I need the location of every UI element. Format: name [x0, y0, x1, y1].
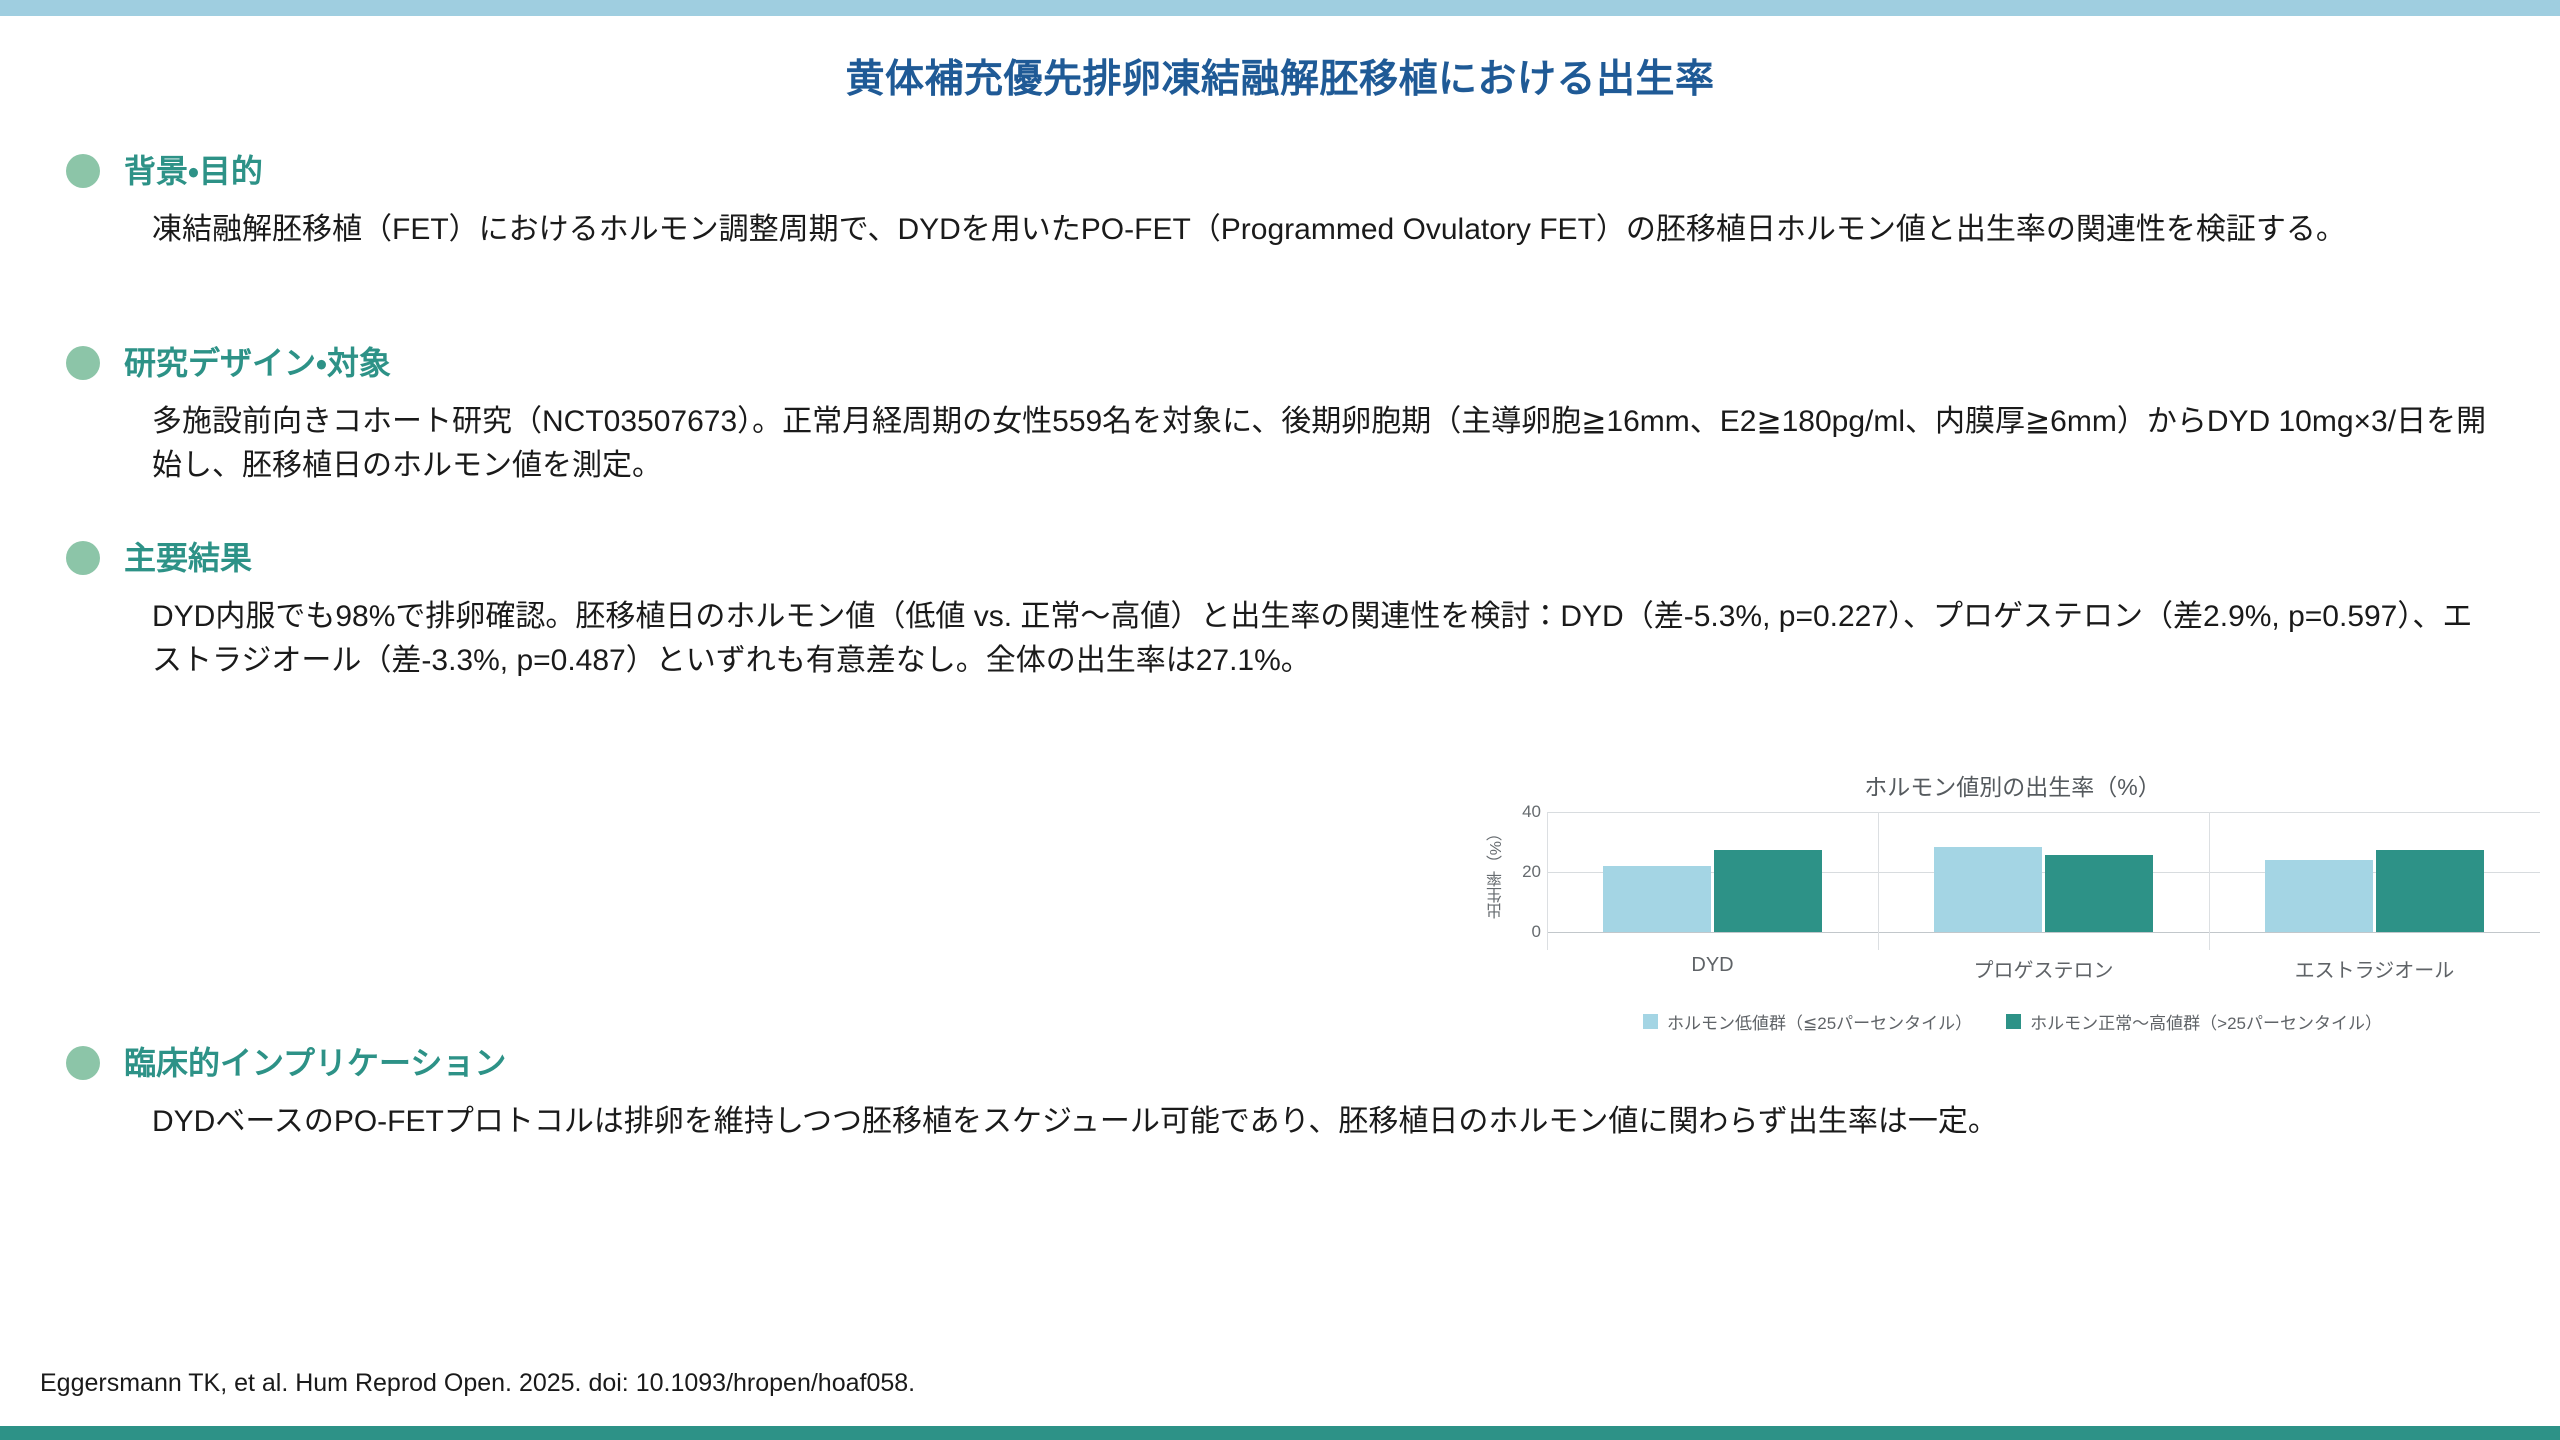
legend-swatch-high-icon	[2006, 1014, 2021, 1029]
chart-title: ホルモン値別の出生率（%）	[1485, 768, 2540, 802]
section-body: DYDベースのPO-FETプロトコルは排卵を維持しつつ胚移植をスケジュール可能で…	[152, 1100, 2496, 1144]
bar-groups	[1547, 812, 2540, 932]
section-body: DYD内服でも98%で排卵確認。胚移植日のホルモン値（低値 vs. 正常〜高値）…	[152, 595, 2496, 684]
section-body: 凍結融解胚移植（FET）におけるホルモン調整周期で、DYDを用いたPO-FET（…	[152, 208, 2496, 252]
bar-estradiol-high	[2376, 850, 2484, 932]
axis-line-zero	[1547, 932, 2540, 933]
bullet-icon	[66, 1046, 100, 1080]
chart-x-axis-labels: DYD プロゲステロン エストラジオール	[1547, 954, 2540, 983]
section-background-purpose: 背景・目的 凍結融解胚移植（FET）におけるホルモン調整周期で、DYDを用いたP…	[66, 148, 2496, 252]
section-header: 臨床的インプリケーション	[66, 1040, 2496, 1086]
section-header: 背景・目的	[66, 148, 2496, 194]
section-title: 臨床的インプリケーション	[124, 1047, 506, 1079]
chart-plot-area: 出生率（%） 40 20 0	[1485, 812, 2540, 932]
chart-legend: ホルモン低値群（≦25パーセンタイル） ホルモン正常〜高値群（>25パーセンタイ…	[1485, 1009, 2540, 1034]
bar-dyd-low	[1603, 866, 1711, 932]
bullet-icon	[66, 346, 100, 380]
citation-footer: Eggersmann TK, et al. Hum Reprod Open. 2…	[40, 1369, 915, 1398]
birth-rate-bar-chart: ホルモン値別の出生率（%） 出生率（%） 40 20 0	[1485, 768, 2540, 1028]
section-clinical-implication: 臨床的インプリケーション DYDベースのPO-FETプロトコルは排卵を維持しつつ…	[66, 1040, 2496, 1144]
legend-item-low: ホルモン低値群（≦25パーセンタイル）	[1643, 1009, 1972, 1034]
section-header: 主要結果	[66, 535, 2496, 581]
legend-item-high: ホルモン正常〜高値群（>25パーセンタイル）	[2006, 1009, 2382, 1034]
y-tick-40: 40	[1522, 802, 1541, 822]
bullet-icon	[66, 541, 100, 575]
bar-group-progesterone	[1878, 812, 2209, 932]
chart-y-axis-label: 出生率（%）	[1485, 825, 1507, 919]
section-body: 多施設前向きコホート研究（NCT03507673）。正常月経周期の女性559名を…	[152, 400, 2496, 489]
bullet-icon	[66, 154, 100, 188]
legend-swatch-low-icon	[1643, 1014, 1658, 1029]
section-title: 研究デザイン・対象	[124, 347, 391, 379]
page-title: 黄体補充優先排卵凍結融解胚移植における出生率	[0, 48, 2560, 104]
y-tick-0: 0	[1532, 922, 1541, 942]
legend-label-low: ホルモン低値群（≦25パーセンタイル）	[1667, 1009, 1972, 1034]
x-label-dyd: DYD	[1547, 954, 1878, 983]
bar-group-dyd	[1547, 812, 1878, 932]
slide: 黄体補充優先排卵凍結融解胚移植における出生率 背景・目的 凍結融解胚移植（FET…	[0, 0, 2560, 1440]
bar-dyd-high	[1714, 850, 1822, 932]
top-accent-bar	[0, 0, 2560, 16]
x-label-progesterone: プロゲステロン	[1878, 954, 2209, 983]
section-study-design: 研究デザイン・対象 多施設前向きコホート研究（NCT03507673）。正常月経…	[66, 340, 2496, 489]
chart-y-axis: 40 20 0	[1507, 812, 1547, 932]
x-label-estradiol: エストラジオール	[2209, 954, 2540, 983]
legend-label-high: ホルモン正常〜高値群（>25パーセンタイル）	[2030, 1009, 2382, 1034]
section-header: 研究デザイン・対象	[66, 340, 2496, 386]
section-title: 背景・目的	[124, 155, 263, 187]
section-key-results: 主要結果 DYD内服でも98%で排卵確認。胚移植日のホルモン値（低値 vs. 正…	[66, 535, 2496, 684]
section-title: 主要結果	[124, 542, 252, 574]
bar-progesterone-high	[2045, 855, 2153, 932]
bottom-accent-bar	[0, 1426, 2560, 1440]
bar-estradiol-low	[2265, 860, 2373, 932]
chart-bars-region	[1547, 812, 2540, 932]
bar-group-estradiol	[2209, 812, 2540, 932]
y-tick-20: 20	[1522, 862, 1541, 882]
bar-progesterone-low	[1934, 847, 2042, 933]
